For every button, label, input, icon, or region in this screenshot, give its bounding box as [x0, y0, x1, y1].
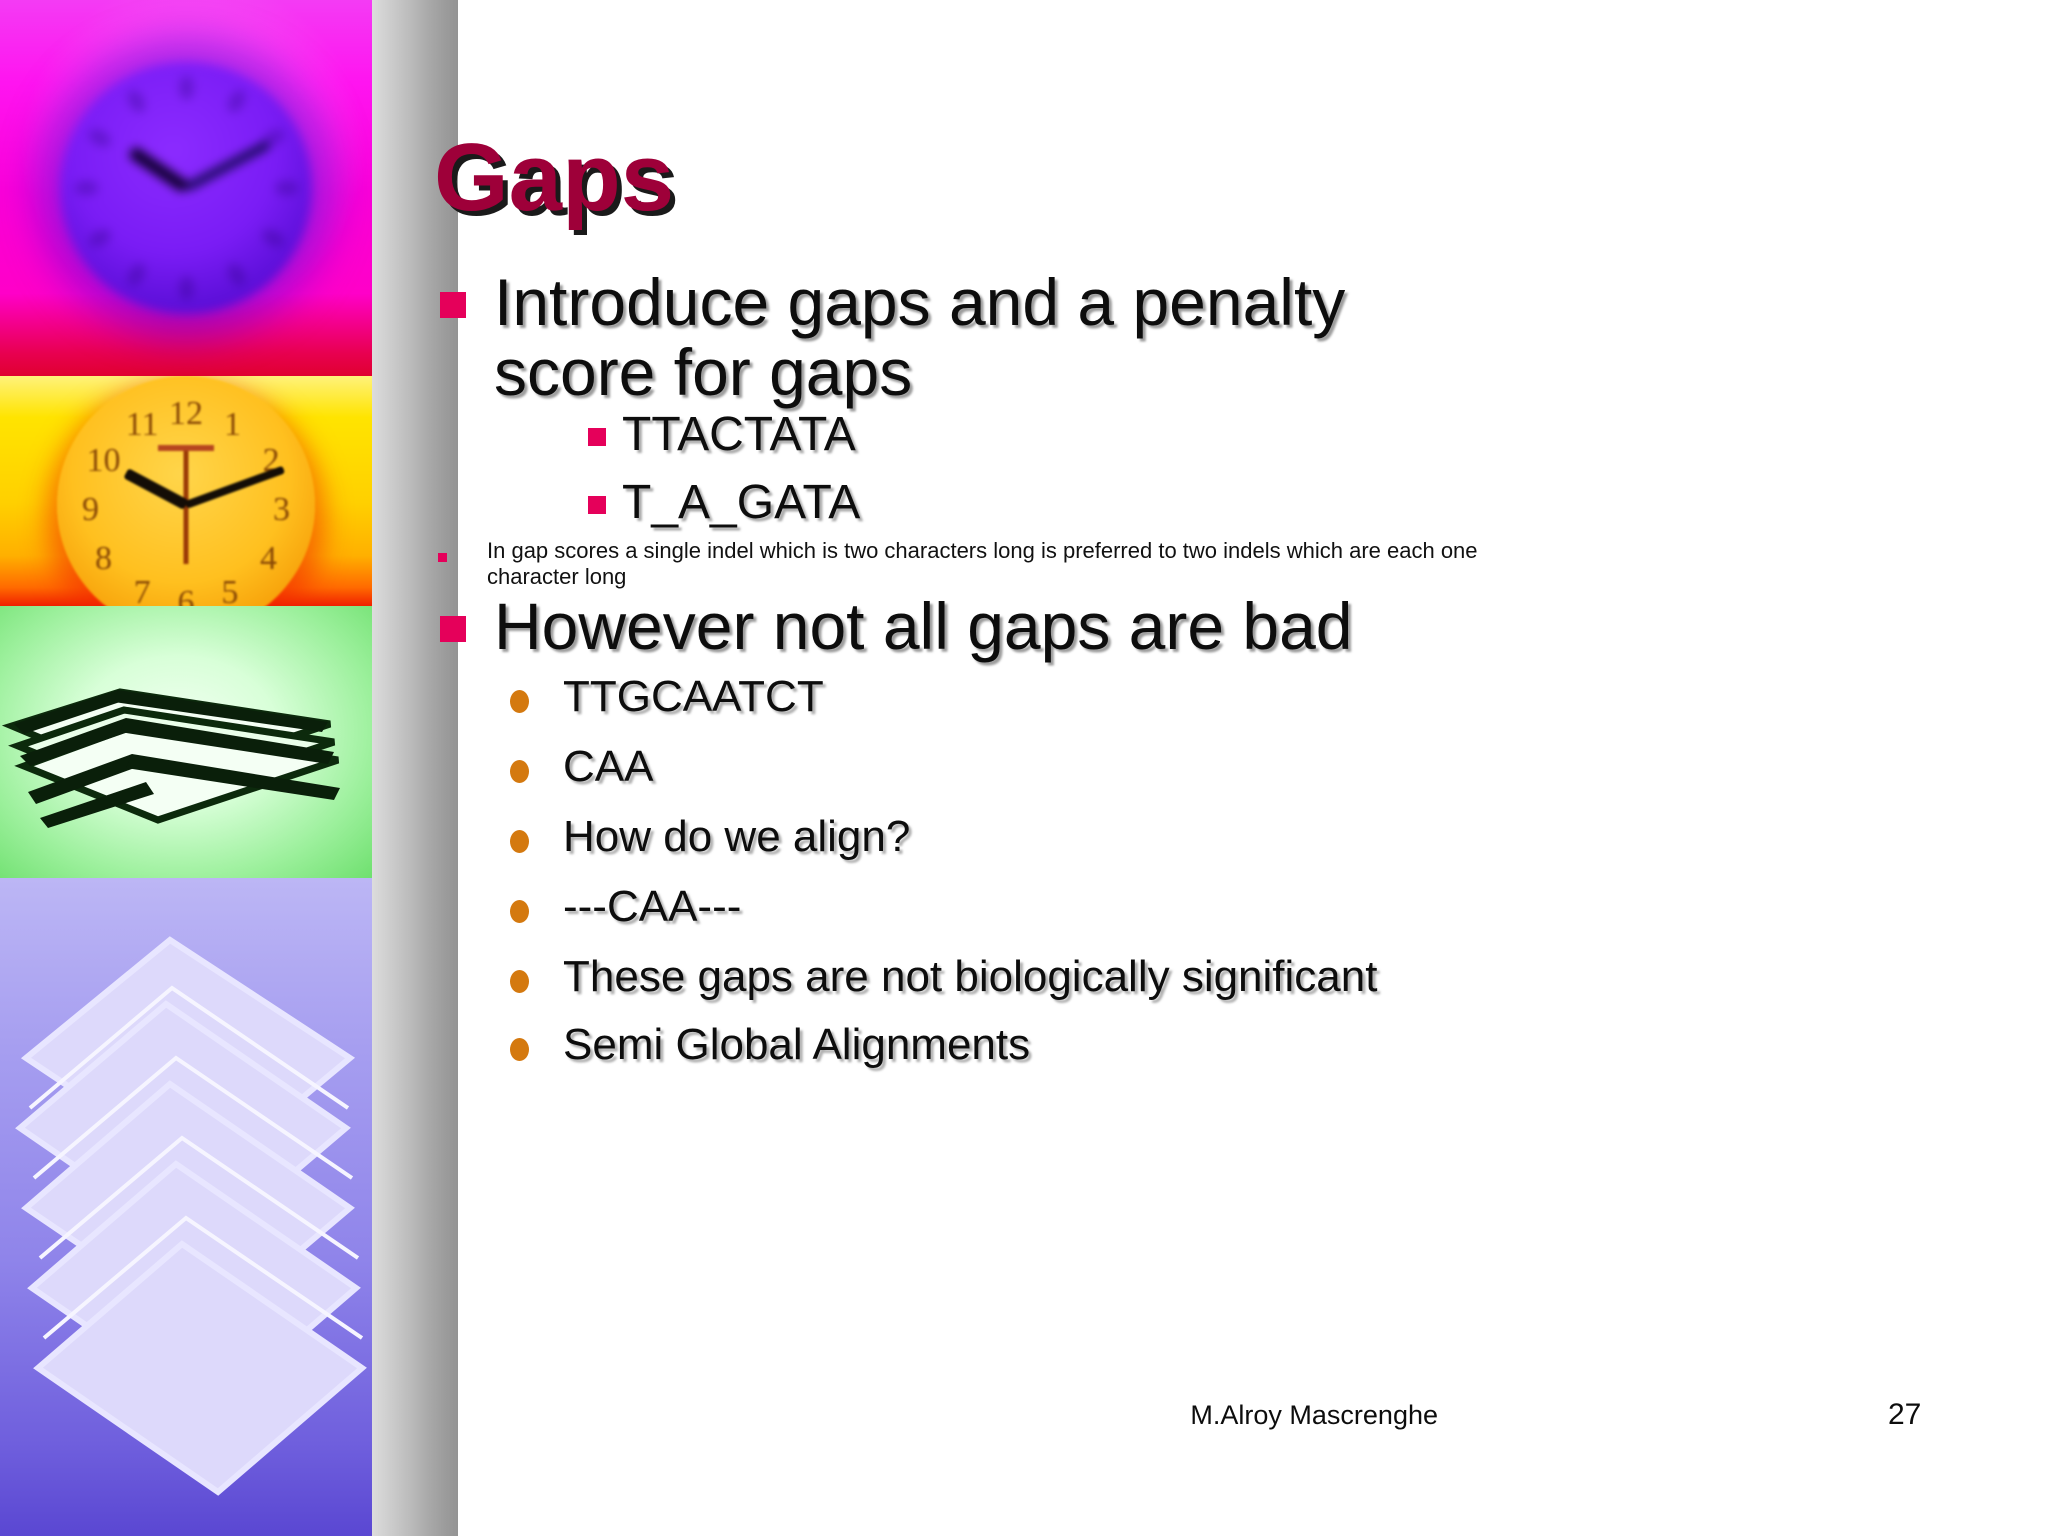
- decorative-image-strip: 12 1 2 3 4 5 6 7 8 9 10 11: [0, 0, 372, 1536]
- sub-bullet-1-1: TTACTATA: [588, 410, 856, 460]
- list-item: These gaps are not biologically signific…: [510, 954, 1377, 1000]
- orange-clock-image: 12 1 2 3 4 5 6 7 8 9 10 11: [0, 376, 372, 606]
- round-bullet-icon: [510, 760, 529, 783]
- list-item-label: CAA: [563, 744, 653, 790]
- magenta-clock-image: [0, 0, 372, 376]
- clock-hour-hand: [123, 468, 188, 510]
- sub-bullet-1-1-label: TTACTATA: [622, 410, 856, 460]
- clock-face-magenta: [60, 62, 312, 314]
- gap-score-note-label: In gap scores a single indel which is tw…: [487, 538, 1497, 590]
- pages-graphic-green: [0, 606, 372, 878]
- violet-pages-image: [0, 878, 372, 1536]
- sub-bullet-1-2: T_A_GATA: [588, 478, 860, 528]
- pages-graphic-violet: [0, 878, 372, 1536]
- clock-face-orange: 12 1 2 3 4 5 6 7 8 9 10 11: [57, 376, 315, 606]
- list-item: ---CAA---: [510, 884, 741, 930]
- slide-canvas: 12 1 2 3 4 5 6 7 8 9 10 11: [0, 0, 2048, 1536]
- gap-score-note: In gap scores a single indel which is tw…: [438, 538, 1497, 590]
- bullet-point-2-label: However not all gaps are bad: [494, 592, 1353, 662]
- bullet-point-2: However not all gaps are bad: [440, 592, 1540, 662]
- slide-number: 27: [1888, 1398, 1921, 1432]
- list-item-label: TTGCAATCT: [563, 674, 824, 720]
- list-item: Semi Global Alignments: [510, 1022, 1030, 1068]
- list-item: TTGCAATCT: [510, 674, 824, 720]
- footer-author: M.Alroy Mascrenghe: [458, 1400, 1438, 1431]
- round-bullet-icon: [510, 830, 529, 853]
- list-item-label: These gaps are not biologically signific…: [563, 954, 1377, 1000]
- round-bullet-icon: [510, 900, 529, 923]
- square-bullet-icon: [588, 428, 606, 446]
- green-pages-image: [0, 606, 372, 878]
- list-item-label: ---CAA---: [563, 884, 741, 930]
- square-bullet-icon: [440, 616, 466, 642]
- list-item: CAA: [510, 744, 653, 790]
- square-bullet-icon: [438, 553, 447, 562]
- list-item-label: How do we align?: [563, 814, 910, 860]
- round-bullet-icon: [510, 970, 529, 993]
- square-bullet-icon: [440, 292, 466, 318]
- round-bullet-icon: [510, 690, 529, 713]
- sub-bullet-1-2-label: T_A_GATA: [622, 478, 860, 528]
- list-item: How do we align?: [510, 814, 910, 860]
- bullet-point-1-label: Introduce gaps and a penalty score for g…: [494, 268, 1470, 408]
- clock-hour-hand: [128, 146, 190, 194]
- round-bullet-icon: [510, 1038, 529, 1061]
- bullet-point-1: Introduce gaps and a penalty score for g…: [440, 268, 1470, 408]
- clock-minute-hand: [185, 465, 285, 508]
- slide-content: Gaps Introduce gaps and a penalty score …: [458, 0, 2048, 1536]
- page-title: Gaps: [434, 130, 674, 226]
- list-item-label: Semi Global Alignments: [563, 1022, 1030, 1068]
- square-bullet-icon: [588, 496, 606, 514]
- clock-minute-hand: [184, 140, 271, 192]
